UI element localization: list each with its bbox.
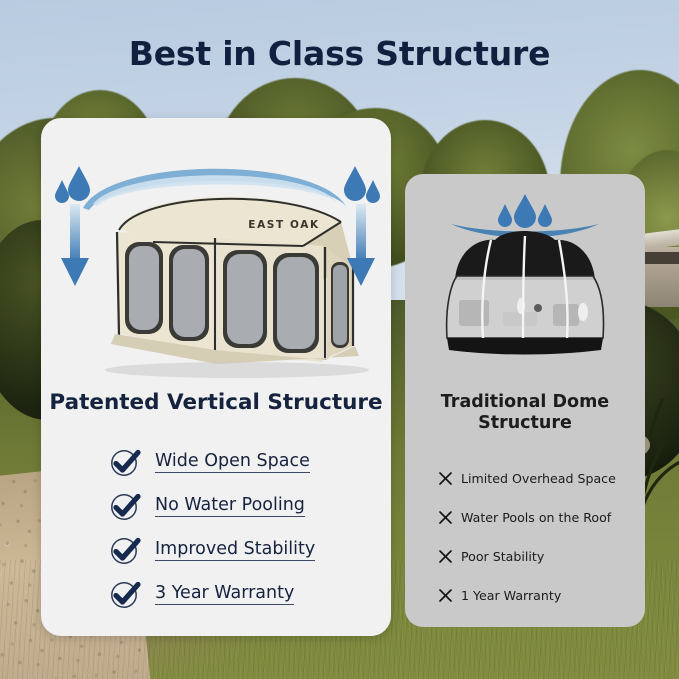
- patented-vertical-structure-card: EAST OAK: [41, 118, 391, 636]
- dome-tent-icon: [433, 188, 617, 364]
- page-title: Best in Class Structure: [0, 34, 679, 73]
- right-card-heading-line2: Structure: [478, 413, 572, 433]
- feature-label: No Water Pooling: [155, 495, 305, 517]
- feature-item: 3 Year Warranty: [109, 572, 391, 616]
- drawback-label: Limited Overhead Space: [461, 471, 616, 486]
- droplet-down-arrow-icon: [53, 162, 97, 292]
- drawback-item: Poor Stability: [437, 537, 647, 576]
- drawbacks-list: Limited Overhead Space Water Pools on th…: [437, 459, 647, 615]
- x-mark-icon: [437, 470, 454, 487]
- check-circle-icon: [109, 578, 141, 610]
- water-runoff-right: [339, 162, 383, 292]
- drawback-label: 1 Year Warranty: [461, 588, 561, 603]
- dome-tent-illustration: [433, 188, 617, 364]
- drawback-label: Poor Stability: [461, 549, 544, 564]
- left-card-heading: Patented Vertical Structure: [41, 390, 391, 415]
- right-card-heading-line1: Traditional Dome: [441, 392, 609, 412]
- drawback-item: Limited Overhead Space: [437, 459, 647, 498]
- feature-item: No Water Pooling: [109, 484, 391, 528]
- x-mark-icon: [437, 548, 454, 565]
- drawback-item: 1 Year Warranty: [437, 576, 647, 615]
- features-list: Wide Open Space No Water Pooling: [109, 440, 391, 616]
- brand-label: EAST OAK: [248, 219, 319, 231]
- feature-item: Wide Open Space: [109, 440, 391, 484]
- infographic-root: Best in Class Structure: [0, 0, 679, 679]
- feature-label: Improved Stability: [155, 539, 315, 561]
- water-droplets-icon: [498, 194, 552, 228]
- check-circle-icon: [109, 490, 141, 522]
- right-card-heading: Traditional Dome Structure: [415, 392, 635, 435]
- water-runoff-left: [53, 162, 97, 292]
- check-circle-icon: [109, 534, 141, 566]
- drawback-label: Water Pools on the Roof: [461, 510, 611, 525]
- x-mark-icon: [437, 509, 454, 526]
- feature-item: Improved Stability: [109, 528, 391, 572]
- drawback-item: Water Pools on the Roof: [437, 498, 647, 537]
- feature-label: 3 Year Warranty: [155, 583, 294, 605]
- droplet-down-arrow-icon: [339, 162, 383, 292]
- x-mark-icon: [437, 587, 454, 604]
- traditional-dome-card: Traditional Dome Structure Limited Overh…: [405, 174, 645, 627]
- feature-label: Wide Open Space: [155, 451, 310, 473]
- check-circle-icon: [109, 446, 141, 478]
